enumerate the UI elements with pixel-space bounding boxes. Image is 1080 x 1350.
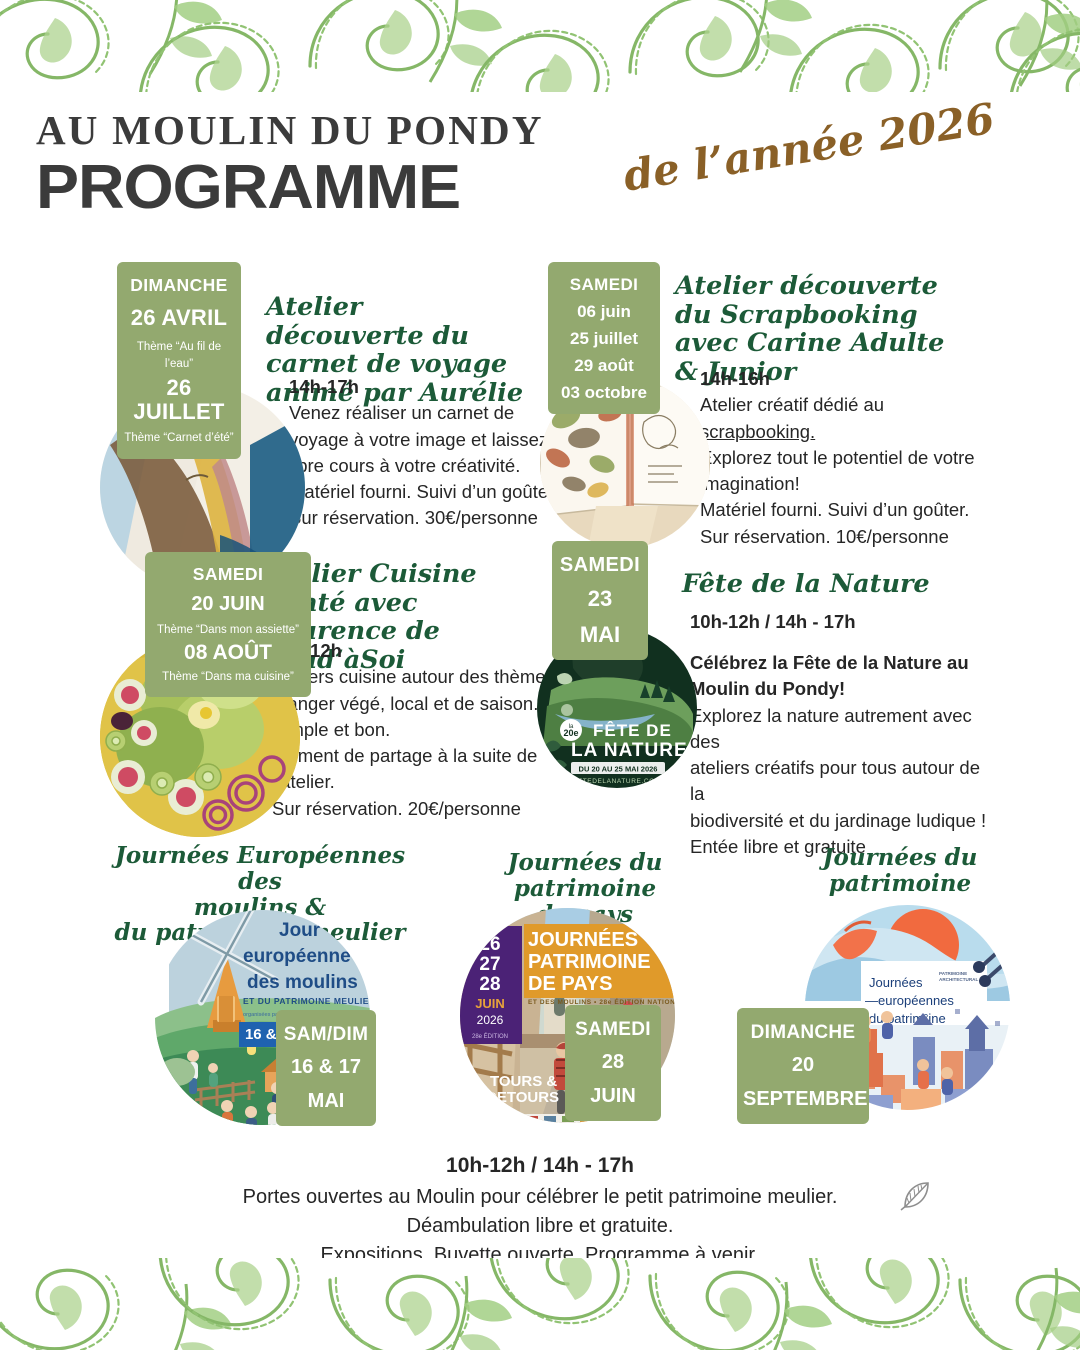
datebox-line-2: 23 [558,587,642,612]
poster-header: AU MOULIN DU PONDY PROGRAMME de l’année … [0,96,1080,226]
event-hours-fete-de-la-nature: 10h-12h / 14h - 17h [690,609,990,635]
event-body-line: Sur réservation. 10€/personne [700,526,949,547]
svg-text:JOURNÉES: JOURNÉES [528,928,638,951]
underlined-word: scrapbooking. [700,421,815,442]
datebox-line-4: 29 août [554,356,654,375]
datebox-theme-1: Thème “Au fil de l’eau” [123,339,235,374]
svg-text:PATRIMOINE: PATRIMOINE [939,971,967,976]
footer-hours: 10h-12h / 14h - 17h [120,1152,960,1180]
event-body-fete-de-la-nature: Célébrez la Fête de la Nature au Moulin … [690,650,990,860]
svg-text:27: 27 [479,954,500,975]
event-body-line: imagination! [700,473,800,494]
svg-text:DETOURS: DETOURS [486,1089,559,1106]
datebox-line-2: 28 [571,1051,655,1073]
datebox-line-3: MAI [558,623,642,648]
datebox-cuisine-sante: SAMEDI 20 JUIN Thème “Dans mon assiette”… [145,552,311,697]
svg-text:28: 28 [479,974,500,995]
datebox-carnet-de-voyage: DIMANCHE 26 AVRIL Thème “Au fil de l’eau… [117,262,241,459]
svg-text:européenne: européenne [243,946,351,967]
svg-text:2026: 2026 [477,1013,504,1027]
event-body-line: Venez réaliser un carnet de [289,402,514,423]
svg-text:ET DU PATRIMOINE MEULIER: ET DU PATRIMOINE MEULIER [243,996,370,1006]
event-title-text: Fête de la Nature [682,569,930,599]
event-body-line: Sur réservation. 20€/personne [272,798,521,819]
bottom-title-line: Journées Européennes des [115,842,405,895]
svg-text:FETEDELANATURE.COM: FETEDELANATURE.COM [573,778,661,785]
event-body-line: Sur réservation. 30€/personne [289,507,538,528]
bottom-title-line: Journées du patrimoine [508,849,663,902]
event-hours: 14h-16h [700,368,770,389]
event-body-line: voyage à votre image et laissez [289,429,548,450]
datebox-line-1: SAMEDI [558,554,642,576]
svg-text:DE PAYS: DE PAYS [528,973,612,995]
event-body-cuisine-sante: 10h-12h Ateliers cuisine autour des thèm… [272,638,562,822]
svg-text:Journées: Journées [869,975,923,990]
event-hours: 10h-12h / 14h - 17h [690,611,856,632]
event-body-line: Matériel fourni. Suivi d’un goûter. [700,499,969,520]
paisley-border-bottom [0,1258,1080,1350]
bottom-title-line: patrimoine [829,870,971,897]
footer-block: 10h-12h / 14h - 17h Portes ouvertes au M… [120,1152,960,1270]
datebox-journees-patrimoine: DIMANCHE 20 SEPTEMBRE [737,1008,869,1124]
datebox-scrapbooking: SAMEDI 06 juin 25 juillet 29 août 03 oct… [548,262,660,414]
page-title: PROGRAMME [36,152,460,223]
datebox-journees-moulins: SAM/DIM 16 & 17 MAI [276,1010,376,1126]
datebox-line-2: 06 juin [554,302,654,321]
datebox-line-1: SAMEDI [571,1019,655,1040]
datebox-line-1: DIMANCHE [743,1022,863,1043]
page-kicker: AU MOULIN DU PONDY [36,106,544,154]
event-body-line: Ateliers cuisine autour des thèmes: [272,666,560,687]
datebox-line-3: 25 juillet [554,329,654,348]
bottom-title-line: Journées du [823,844,978,871]
svg-text:du: du [646,935,659,947]
datebox-theme-2: Thème “Dans ma cuisine” [151,669,305,686]
svg-text:DU 20 AU 25 MAI 2026: DU 20 AU 25 MAI 2026 [579,765,658,774]
datebox-line-3: MAI [282,1090,370,1112]
datebox-line-1: SAM/DIM [282,1024,370,1045]
datebox-theme-2: Thème “Carnet d’été” [123,430,235,447]
page-subtitle-script: de l’année 2026 [620,94,998,201]
svg-text:FÊTE DE: FÊTE DE [593,721,672,740]
datebox-fete-de-la-nature: SAMEDI 23 MAI [552,541,648,660]
datebox-line-3: 08 AOÛT [151,641,305,665]
svg-text:26: 26 [479,934,500,955]
datebox-theme-1: Thème “Dans mon assiette” [151,622,305,639]
event-body-line: libre cours à votre créativité. [289,455,520,476]
svg-text:TOURS &: TOURS & [490,1073,557,1090]
datebox-line-1: SAMEDI [151,565,305,585]
svg-text:PATRIMOINE: PATRIMOINE [528,951,651,973]
event-lead-line: Célébrez la Fête de la Nature au [690,652,969,673]
paisley-border-top [0,0,1080,92]
poster-page: AU MOULIN DU PONDY PROGRAMME de l’année … [0,0,1080,1350]
datebox-line-1: SAMEDI [554,275,654,294]
footer-line: Déambulation libre et gratuite. [407,1215,674,1237]
svg-text:LA NATURE: LA NATURE [571,740,688,761]
datebox-line-3: SEPTEMBRE [743,1088,863,1110]
datebox-journees-patrimoine-de-pays: SAMEDI 28 JUIN [565,1005,661,1121]
event-body-line: Explorez tout le potentiel de votre [700,447,975,468]
datebox-line-2: 20 JUIN [151,593,305,615]
datebox-line-2: 20 [743,1054,863,1076]
event-body-line: Atelier créatif dédié au scrapbooking. [700,394,884,441]
event-body-line: ateliers créatifs pour tous autour de la [690,757,980,804]
bottom-title-journees-patrimoine: Journées du patrimoine [790,845,1010,897]
svg-text:20e: 20e [563,728,578,738]
svg-text:—européennes: —européennes [865,993,954,1008]
event-body-line: Explorez la nature autrement avec des [690,705,972,752]
datebox-line-3: JUIN [571,1085,655,1107]
svg-text:JUIN: JUIN [475,996,505,1011]
event-body-line: Matériel fourni. Suivi d’un goûter. [289,481,558,502]
datebox-line-5: 03 octobre [554,383,654,402]
event-body-carnet-de-voyage: 14h-17h Venez réaliser un carnet de voya… [289,374,564,532]
event-lead-line: Moulin du Pondy! [690,678,845,699]
svg-text:ARCHITECTURAL: ARCHITECTURAL [939,977,978,982]
event-title-fete-de-la-nature: Fête de la Nature [682,570,1002,599]
svg-text:Jour: Jour [279,920,321,941]
datebox-line-1: DIMANCHE [123,276,235,296]
leaf-icon [896,1176,936,1216]
svg-text:du patrim°ine: du patrim°ine [869,1011,946,1026]
svg-text:des moulins: des moulins [247,972,358,993]
event-body-line: biodiversité et du jardinage ludique ! [690,810,986,831]
event-body-line: Manger végé, local et de saison. [272,693,538,714]
datebox-line-2: 26 AVRIL [123,306,235,331]
event-body-scrapbooking: 14h-16h Atelier créatif dédié au scrapbo… [700,366,985,550]
svg-text:28e ÉDITION: 28e ÉDITION [472,1033,508,1040]
datebox-line-3: 26 JUILLET [123,376,235,425]
footer-line: Portes ouvertes au Moulin pour célébrer … [243,1186,838,1208]
event-body-line: Moment de partage à la suite de [272,745,537,766]
event-hours: 14h-17h [289,376,359,397]
datebox-line-2: 16 & 17 [282,1056,370,1078]
